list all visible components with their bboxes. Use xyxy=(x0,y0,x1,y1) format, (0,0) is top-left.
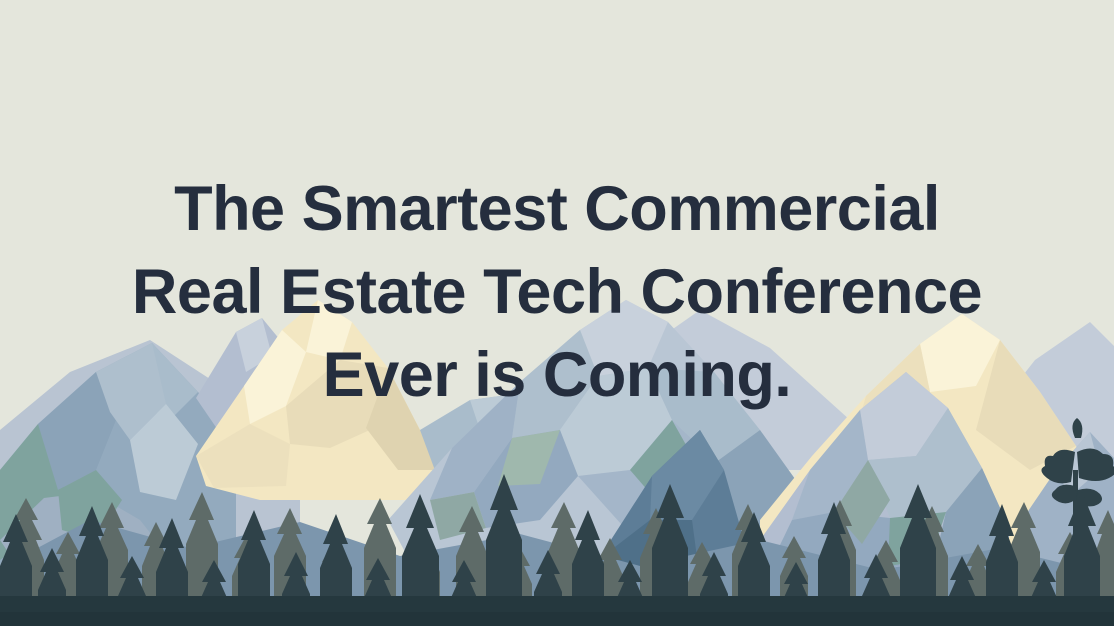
headline-line-1: The Smartest Commercial xyxy=(40,168,1074,251)
headline-line-2: Real Estate Tech Conference xyxy=(40,251,1074,334)
headline-line-3: Ever is Coming. xyxy=(40,334,1074,417)
announcement-slide: The Smartest Commercial Real Estate Tech… xyxy=(0,0,1114,626)
page-title: The Smartest Commercial Real Estate Tech… xyxy=(0,168,1114,417)
